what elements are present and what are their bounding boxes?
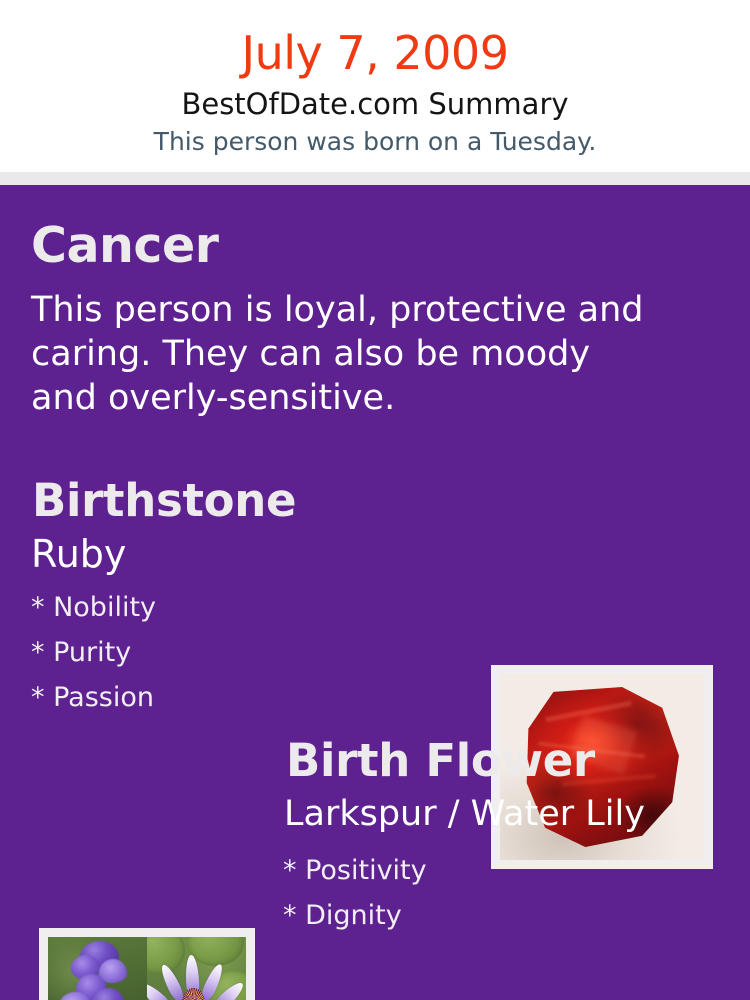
list-item: * Passion xyxy=(31,675,156,720)
list-item: * Nobility xyxy=(31,585,156,630)
header: July 7, 2009 BestOfDate.com Summary This… xyxy=(0,0,750,172)
site-summary-label: BestOfDate.com Summary xyxy=(0,86,750,122)
birthstone-trait-list: * Nobility * Purity * Passion xyxy=(31,585,156,720)
birthstone-heading: Birthstone xyxy=(32,475,296,527)
list-item: * Positivity xyxy=(283,848,427,893)
details-panel: Cancer This person is loyal, protective … xyxy=(0,185,750,1000)
summary-card: July 7, 2009 BestOfDate.com Summary This… xyxy=(0,0,750,1000)
water-lily-photo-half xyxy=(147,937,246,1000)
zodiac-description: This person is loyal, protective and car… xyxy=(31,288,651,420)
birth-flower-trait-list: * Positivity * Dignity xyxy=(283,848,427,938)
zodiac-sign-heading: Cancer xyxy=(31,218,218,274)
page-title-date: July 7, 2009 xyxy=(0,24,750,82)
birth-flower-name: Larkspur / Water Lily xyxy=(284,792,645,836)
birth-flower-photo xyxy=(48,937,246,1000)
list-item: * Dignity xyxy=(283,893,427,938)
born-day-text: This person was born on a Tuesday. xyxy=(0,126,750,158)
birth-flower-photo-frame xyxy=(39,928,255,1000)
list-item: * Purity xyxy=(31,630,156,675)
header-divider xyxy=(0,172,750,185)
birth-flower-heading: Birth Flower xyxy=(286,735,595,787)
larkspur-photo-half xyxy=(48,937,147,1000)
birthstone-name: Ruby xyxy=(31,531,126,577)
